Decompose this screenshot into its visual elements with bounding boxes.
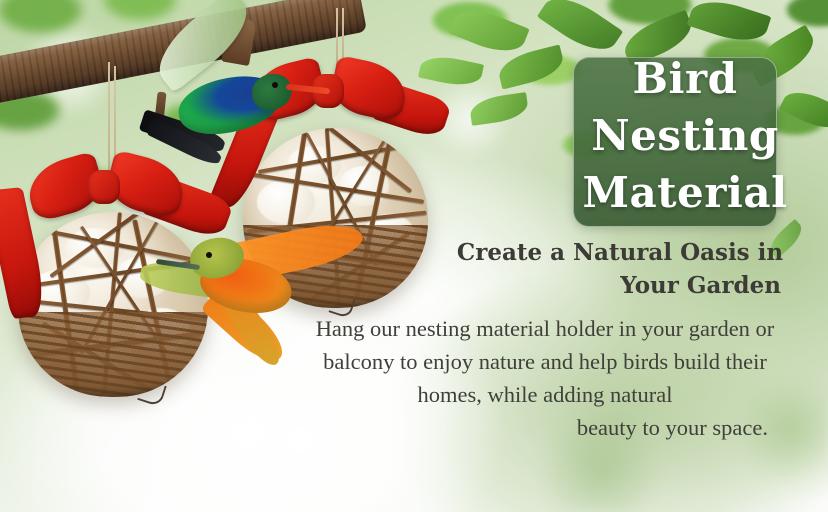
subtitle-line-2: Your Garden (455, 269, 785, 302)
banner-subtitle: Create a Natural Oasis in Your Garden (455, 236, 785, 302)
body-line-1: Hang our nesting material holder in your (316, 316, 683, 341)
subtitle-line-1: Create a Natural Oasis in (457, 239, 783, 266)
bird-nesting-material-banner: Bird Nesting Material Create a Natural O… (0, 0, 828, 512)
title-line-3: Material (540, 164, 828, 221)
title-line-1: Bird (540, 50, 828, 107)
banner-body-copy: Hang our nesting material holder in your… (300, 312, 790, 444)
banner-title: Bird Nesting Material (540, 50, 828, 221)
green-blue-hummingbird (120, 30, 310, 180)
title-line-2: Nesting (540, 107, 828, 164)
body-line-4: beauty to your space. (300, 411, 790, 444)
